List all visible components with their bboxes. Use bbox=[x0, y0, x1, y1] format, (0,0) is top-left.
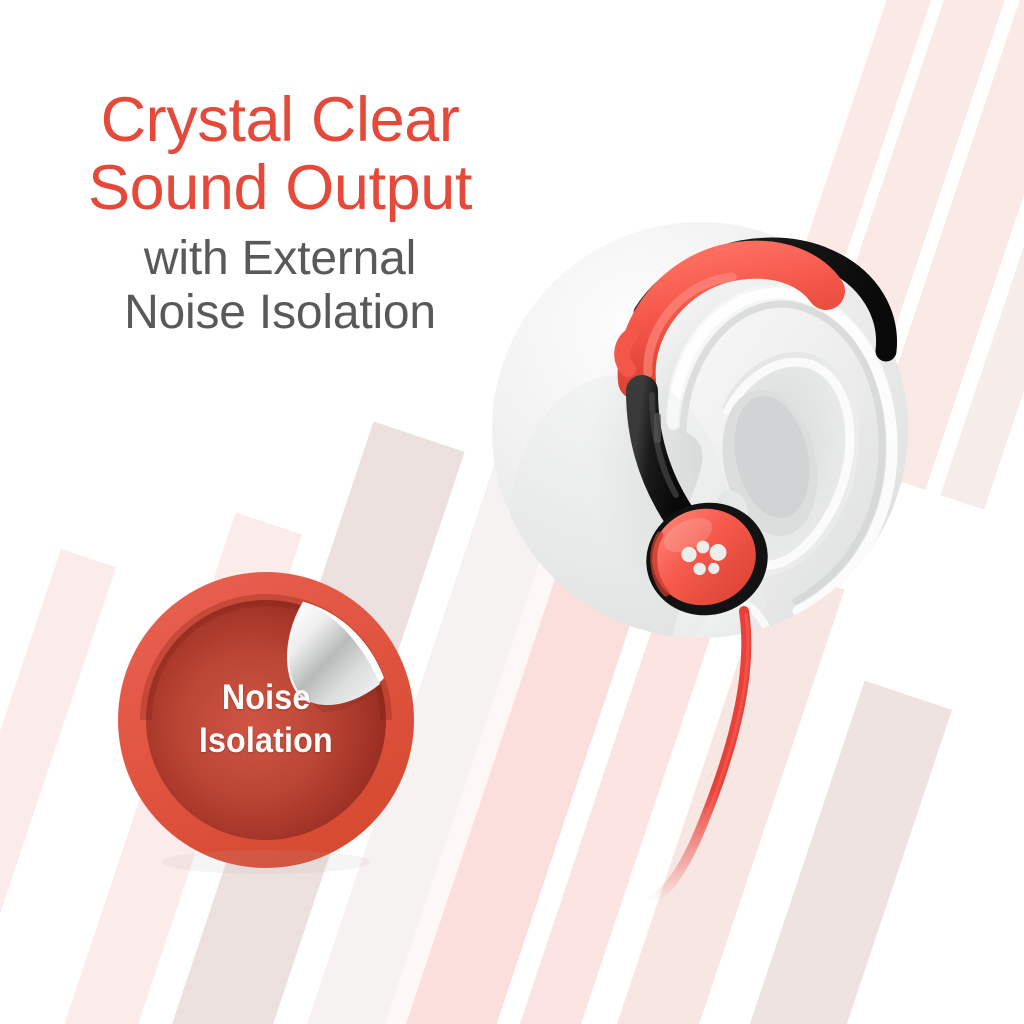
headline-line-2: Sound Output bbox=[0, 156, 560, 220]
headline-block: Crystal Clear Sound Output with External… bbox=[0, 88, 560, 338]
headline-line-4: Noise Isolation bbox=[0, 289, 560, 338]
noise-isolation-badge[interactable]: Noise Isolation bbox=[108, 562, 424, 878]
earphone-cable bbox=[652, 611, 748, 901]
banner-canvas: Crystal Clear Sound Output with External… bbox=[0, 0, 1024, 1024]
headline-line-1: Crystal Clear bbox=[0, 88, 560, 152]
headline-line-3: with External bbox=[0, 235, 560, 284]
